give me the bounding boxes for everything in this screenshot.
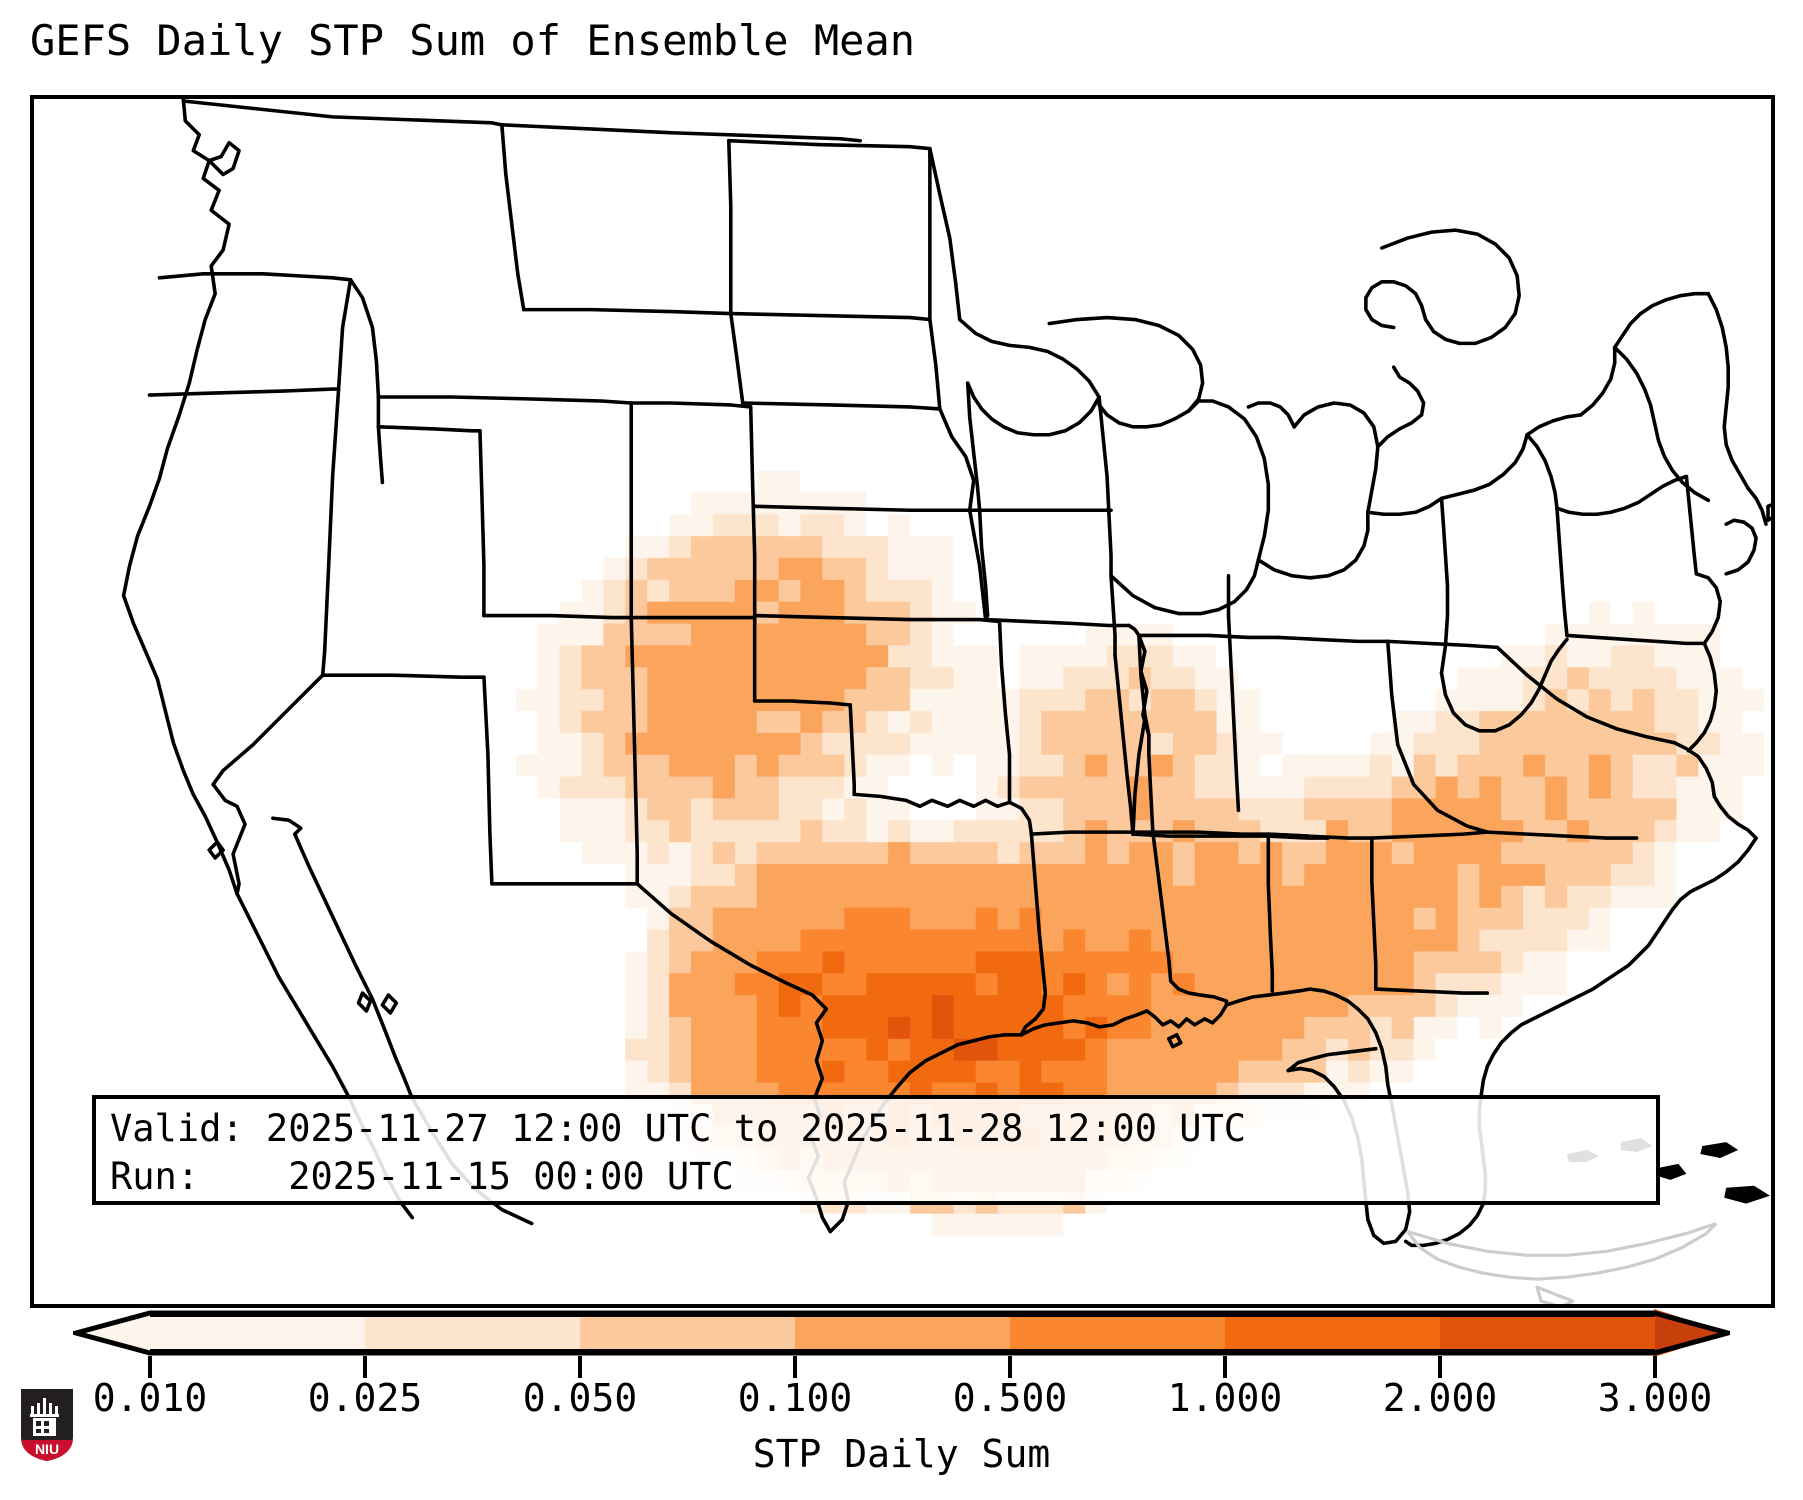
- colorbar-tick-6: [1438, 1356, 1442, 1378]
- colorbar-tick-label-2: 0.050: [523, 1376, 637, 1420]
- colorbar-tick-label-1: 0.025: [308, 1376, 422, 1420]
- colorbar-tick-labels: 0.0100.0250.0500.1000.5001.0002.0003.000: [0, 1376, 1803, 1422]
- colorbar-tick-2: [578, 1356, 582, 1378]
- logo-text: NIU: [35, 1441, 59, 1457]
- colorbar-segment-0: [150, 1317, 365, 1349]
- colorbar-tick-4: [1008, 1356, 1012, 1378]
- model-run-text: Run: 2025-11-15 00:00 UTC: [110, 1153, 1642, 1201]
- colorbar-tick-label-5: 1.000: [1168, 1376, 1282, 1420]
- colorbar-segment-6: [1440, 1317, 1655, 1349]
- page-title: GEFS Daily STP Sum of Ensemble Mean: [30, 16, 915, 65]
- colorbar-tick-label-6: 2.000: [1383, 1376, 1497, 1420]
- colorbar-ticks: [0, 1356, 1803, 1378]
- colorbar-segment-1: [365, 1317, 580, 1349]
- colorbar-area: 0.0100.0250.0500.1000.5001.0002.0003.000…: [0, 1308, 1803, 1500]
- colorbar-tick-label-4: 0.500: [953, 1376, 1067, 1420]
- colorbar[interactable]: [73, 1309, 1730, 1357]
- niu-logo: NIU: [16, 1384, 78, 1466]
- colorbar-gradient: [150, 1313, 1655, 1353]
- colorbar-segment-2: [580, 1317, 795, 1349]
- colorbar-segment-3: [795, 1317, 1010, 1349]
- colorbar-tick-label-3: 0.100: [738, 1376, 852, 1420]
- map-panel[interactable]: Valid: 2025-11-27 12:00 UTC to 2025-11-2…: [30, 95, 1775, 1308]
- colorbar-segment-5: [1225, 1317, 1440, 1349]
- colorbar-over-arrow: [1654, 1309, 1730, 1357]
- valid-run-infobox: Valid: 2025-11-27 12:00 UTC to 2025-11-2…: [92, 1095, 1660, 1205]
- colorbar-tick-label-0: 0.010: [93, 1376, 207, 1420]
- colorbar-segment-4: [1010, 1317, 1225, 1349]
- gefs-stp-map-figure: GEFS Daily STP Sum of Ensemble Mean: [0, 0, 1803, 1500]
- colorbar-tick-3: [793, 1356, 797, 1378]
- colorbar-tick-5: [1223, 1356, 1227, 1378]
- colorbar-tick-1: [363, 1356, 367, 1378]
- valid-period-text: Valid: 2025-11-27 12:00 UTC to 2025-11-2…: [110, 1105, 1642, 1153]
- colorbar-tick-0: [148, 1356, 152, 1378]
- colorbar-axis-label: STP Daily Sum: [0, 1432, 1803, 1476]
- colorbar-under-arrow: [73, 1309, 151, 1357]
- colorbar-tick-7: [1653, 1356, 1657, 1378]
- colorbar-tick-label-7: 3.000: [1598, 1376, 1712, 1420]
